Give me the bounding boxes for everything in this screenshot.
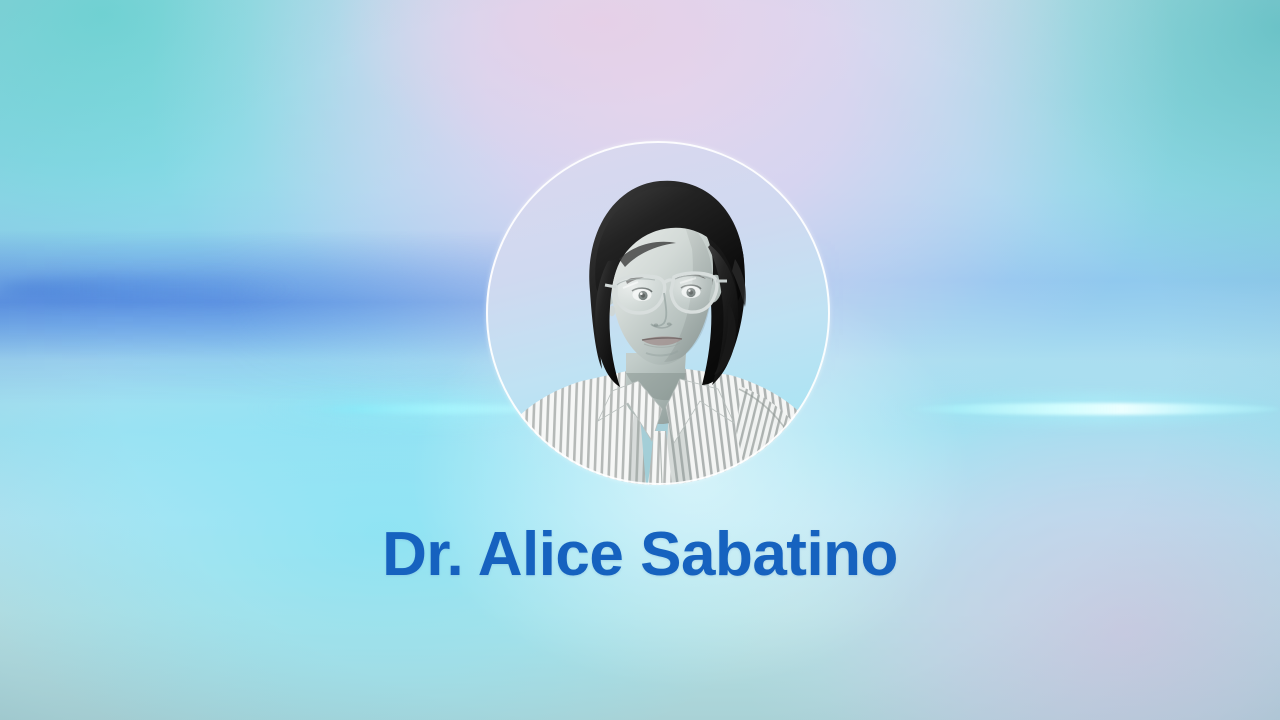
light-streak-far-left <box>0 276 300 302</box>
light-streak-right-halo <box>880 394 1280 424</box>
portrait-illustration <box>486 141 830 485</box>
portrait-clip-circle <box>486 141 830 485</box>
speaker-portrait <box>486 141 830 485</box>
speaker-name-line: Dr. Alice Sabatino <box>0 524 1280 586</box>
light-streak-right <box>905 403 1280 415</box>
title-card-slide: Dr. Alice Sabatino <box>0 0 1280 720</box>
speaker-name-text: Dr. Alice Sabatino <box>382 524 898 586</box>
